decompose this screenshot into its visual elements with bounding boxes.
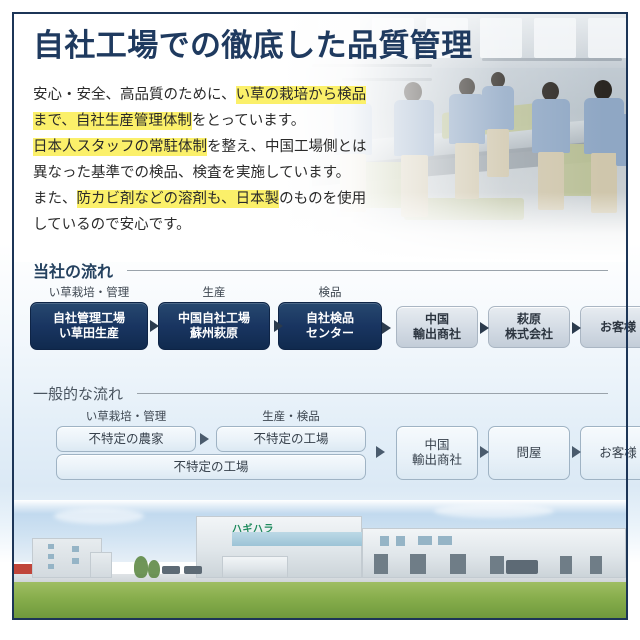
step-label: 中国輸出商社	[413, 312, 461, 342]
general-flow-right-step-1: 中国輸出商社	[396, 426, 478, 480]
grass-field	[14, 582, 626, 618]
step-label: 問屋	[516, 446, 541, 461]
plain-text: 安心・安全、高品質のために、	[33, 87, 236, 103]
own-flow-step-2: 中国自社工場蘇州萩原	[158, 302, 270, 350]
flow-arrow-icon	[200, 433, 209, 445]
plain-text: また、	[33, 191, 77, 207]
step-label: 萩原株式会社	[505, 312, 553, 342]
general-flow-diagram: い草栽培・管理生産・検品不特定の農家不特定の工場不特定の工場中国輸出商社問屋お客…	[30, 408, 610, 488]
step-label: 中国輸出商社	[412, 438, 462, 468]
step-label: 不特定の工場	[173, 460, 248, 475]
intro-line: 安心・安全、高品質のために、い草の栽培から検品	[33, 82, 428, 108]
section-heading-general-flow: 一般的な流れ	[33, 383, 608, 404]
flow-arrow-icon	[572, 446, 581, 458]
intro-line: しているので安心です。	[33, 212, 428, 238]
section-title-own-flow: 当社の流れ	[33, 258, 113, 282]
own-flow-step-4: 中国輸出商社	[396, 306, 478, 348]
general-flow-right-step-3: お客様	[580, 426, 640, 480]
step-caption: い草栽培・管理	[30, 284, 148, 300]
plain-text: を整え、中国工場側とは	[207, 139, 367, 155]
own-flow-step-6: お客様	[580, 306, 640, 348]
step-label: 自社管理工場い草田生産	[53, 311, 125, 341]
highlighted-text: 防カビ剤などの溶剤も、日本製	[77, 190, 280, 208]
plain-text: 異なった基準での検品、検査を実施しています。	[33, 165, 350, 181]
step-label: 不特定の農家	[88, 432, 163, 447]
own-flow-diagram: い草栽培・管理生産検品自社管理工場い草田生産中国自社工場蘇州萩原自社検品センター…	[30, 284, 610, 356]
general-flow-top-step-1: 不特定の農家	[56, 426, 196, 452]
step-label: 不特定の工場	[253, 432, 328, 447]
step-label: 自社検品センター	[306, 311, 354, 341]
flow-arrow-icon	[480, 322, 489, 334]
page-title: 自社工場での徹底した品質管理	[33, 28, 473, 64]
flow-arrow-icon	[382, 322, 391, 334]
step-label: お客様	[600, 320, 636, 335]
car	[162, 566, 180, 574]
plain-text: のものを使用	[279, 191, 366, 207]
intro-line: まで、自社生産管理体制をとっています。	[33, 108, 428, 134]
truck	[506, 560, 538, 574]
own-flow-step-1: 自社管理工場い草田生産	[30, 302, 148, 350]
step-caption: 検品	[278, 284, 382, 300]
photo-top-fade	[14, 500, 626, 514]
highlighted-text: まで、自社生産管理体制	[33, 112, 192, 130]
factory-exterior-photo: ハギハラ	[14, 500, 626, 618]
flow-arrow-icon	[572, 322, 581, 334]
flow-arrow-icon	[376, 446, 385, 458]
own-flow-step-5: 萩原株式会社	[488, 306, 570, 348]
step-caption: い草栽培・管理	[56, 408, 196, 424]
section-title-general-flow: 一般的な流れ	[33, 383, 123, 404]
intro-line: 異なった基準での検品、検査を実施しています。	[33, 160, 428, 186]
intro-line: また、防カビ剤などの溶剤も、日本製のものを使用	[33, 186, 428, 212]
heading-rule	[127, 270, 608, 271]
plain-text: をとっています。	[192, 113, 305, 129]
general-flow-top-step-2: 不特定の工場	[216, 426, 366, 452]
highlighted-text: 日本人スタッフの常駐体制	[33, 138, 207, 156]
flow-arrow-icon	[480, 446, 489, 458]
infographic-page: 自社工場での徹底した品質管理 安心・安全、高品質のために、い草の栽培から検品まで…	[0, 0, 640, 640]
plain-text: しているので安心です。	[33, 217, 191, 233]
heading-rule	[137, 393, 608, 394]
general-flow-right-step-2: 問屋	[488, 426, 570, 480]
intro-paragraph: 安心・安全、高品質のために、い草の栽培から検品まで、自社生産管理体制をとっていま…	[33, 82, 428, 238]
flow-arrow-icon	[274, 320, 283, 332]
step-caption: 生産・検品	[216, 408, 366, 424]
general-flow-wide-step-1: 不特定の工場	[56, 454, 366, 480]
highlighted-text: い草の栽培から検品	[236, 86, 367, 104]
step-caption: 生産	[158, 284, 270, 300]
step-label: お客様	[599, 446, 637, 461]
own-flow-step-3: 自社検品センター	[278, 302, 382, 350]
flow-arrow-icon	[150, 320, 159, 332]
car	[184, 566, 202, 574]
step-label: 中国自社工場蘇州萩原	[178, 311, 250, 341]
curtain-glass	[232, 532, 372, 546]
section-heading-own-flow: 当社の流れ	[33, 258, 608, 282]
intro-line: 日本人スタッフの常駐体制を整え、中国工場側とは	[33, 134, 428, 160]
